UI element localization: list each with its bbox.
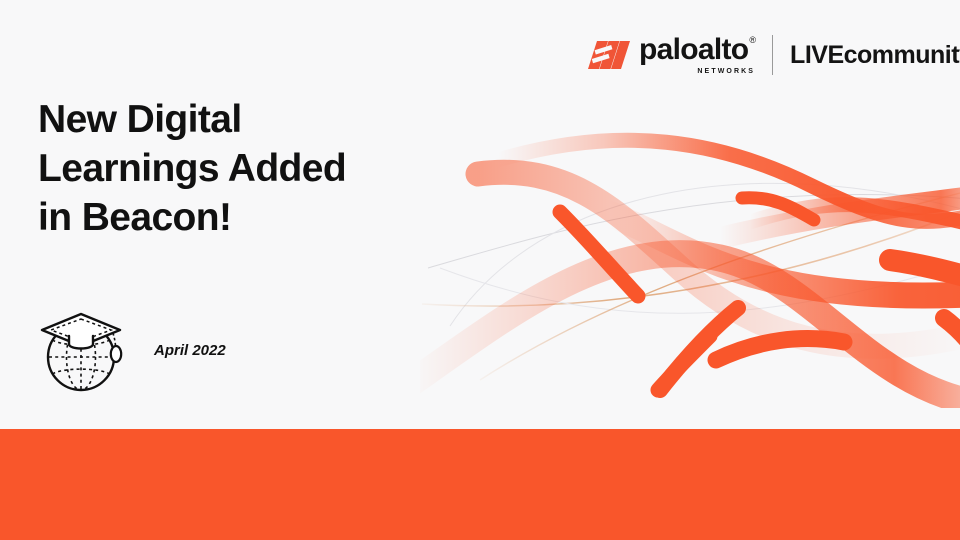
brand-name-row: paloalto ®: [639, 35, 756, 65]
brand-lockup: paloalto ® NETWORKS LIVEcommunity: [588, 33, 960, 77]
brand-wordmark: paloalto ® NETWORKS: [639, 35, 756, 75]
meta-row: April 2022: [38, 300, 226, 400]
brand-name: paloalto: [639, 35, 748, 65]
brand-divider: [772, 35, 773, 75]
date-label: April 2022: [154, 342, 226, 359]
orange-footer-band: [0, 429, 960, 540]
registered-mark-icon: ®: [749, 36, 756, 45]
orange-wave-swoosh-graphic: [420, 118, 960, 408]
paloalto-logo-mark-icon: [588, 41, 630, 69]
brand-subtitle: NETWORKS: [639, 68, 756, 75]
graduation-cap-globe-icon: [38, 300, 138, 400]
slide-canvas: paloalto ® NETWORKS LIVEcommunity New Di…: [0, 0, 960, 540]
partner-name: LIVEcommunity: [790, 41, 960, 70]
page-title: New Digital Learnings Added in Beacon!: [38, 96, 458, 242]
